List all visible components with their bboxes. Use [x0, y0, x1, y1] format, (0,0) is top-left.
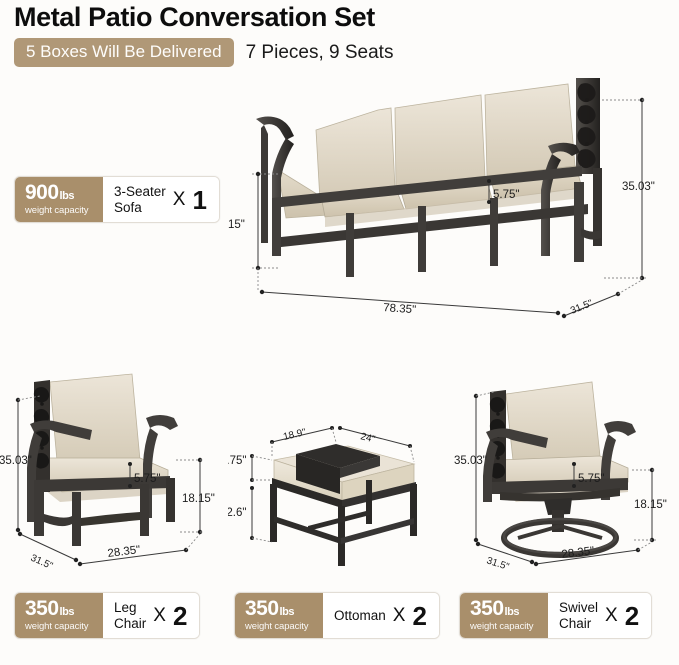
capacity-value: 350lbs — [25, 598, 93, 619]
item-quantity: 2 — [173, 603, 187, 629]
multiply-sign: X — [393, 605, 406, 627]
capacity-block: 900lbs weight capacity — [15, 177, 103, 222]
header-subrow: 5 Boxes Will Be Delivered 7 Pieces, 9 Se… — [14, 38, 393, 67]
capacity-sublabel: weight capacity — [25, 205, 93, 216]
multiply-sign: X — [153, 605, 166, 627]
capacity-block: 350lbs weight capacity — [235, 593, 323, 638]
multiply-sign: X — [605, 605, 618, 627]
dim-sofa-seat-height: 18.15" — [228, 219, 245, 231]
dim-ottoman-cushion: 5.75" — [228, 455, 246, 467]
capacity-sublabel: weight capacity — [470, 621, 538, 632]
dim-sofa-depth: 31.5" — [569, 298, 595, 317]
capacity-badge-swivel-chair: 350lbs weight capacity Swivel Chair X 2 — [459, 592, 652, 639]
dim-sofa-width: 78.35" — [383, 302, 417, 316]
item-block: Leg Chair X 2 — [103, 593, 199, 638]
item-block: Ottoman X 2 — [323, 593, 439, 638]
swivel-chair-illustration: 35.03" 18.15" 5.75" 31.5" 28.35" — [444, 352, 679, 572]
item-quantity: 2 — [412, 603, 426, 629]
capacity-block: 350lbs weight capacity — [460, 593, 548, 638]
boxes-delivered-badge: 5 Boxes Will Be Delivered — [14, 38, 234, 67]
dim-swivel-cushion: 5.75" — [578, 473, 604, 485]
dim-ottoman-width: 24" — [359, 431, 376, 445]
item-name: Ottoman — [334, 608, 386, 623]
capacity-sublabel: weight capacity — [25, 621, 93, 632]
dim-swivel-depth: 31.5" — [485, 555, 511, 572]
item-name: Leg Chair — [114, 600, 146, 630]
dim-legchair-width: 28.35" — [107, 544, 141, 560]
dim-sofa-cushion: 5.75" — [493, 189, 519, 201]
capacity-value: 350lbs — [470, 598, 538, 619]
dim-swivel-width: 28.35" — [561, 545, 595, 561]
capacity-badge-ottoman: 350lbs weight capacity Ottoman X 2 — [234, 592, 440, 639]
dim-swivel-height: 35.03" — [454, 455, 487, 467]
dim-legchair-seat-height: 18.15" — [182, 493, 215, 505]
capacity-value: 350lbs — [245, 598, 313, 619]
capacity-sublabel: weight capacity — [245, 621, 313, 632]
item-quantity: 1 — [192, 187, 206, 213]
item-block: 3-Seater Sofa X 1 — [103, 177, 219, 222]
sofa-illustration: 18.15" 35.03" 5.75" 78.35" 31.5" — [228, 78, 679, 333]
item-block: Swivel Chair X 2 — [548, 593, 651, 638]
dim-legchair-cushion: 5.75" — [134, 473, 160, 485]
item-name: Swivel Chair — [559, 600, 598, 630]
dim-ottoman-height: 12.6" — [228, 507, 246, 519]
capacity-badge-sofa: 900lbs weight capacity 3-Seater Sofa X 1 — [14, 176, 220, 223]
ottoman-illustration: 18.9" 24" 5.75" 12.6" — [228, 408, 446, 568]
multiply-sign: X — [173, 189, 186, 211]
dim-swivel-seat-height: 18.15" — [634, 499, 667, 511]
dim-ottoman-depth: 18.9" — [282, 427, 307, 443]
capacity-badge-leg-chair: 350lbs weight capacity Leg Chair X 2 — [14, 592, 200, 639]
capacity-block: 350lbs weight capacity — [15, 593, 103, 638]
item-quantity: 2 — [625, 603, 639, 629]
dim-sofa-height: 35.03" — [622, 181, 655, 193]
dim-legchair-height: 35.03" — [0, 455, 32, 467]
item-name: 3-Seater Sofa — [114, 184, 166, 214]
pieces-seats-label: 7 Pieces, 9 Seats — [246, 42, 394, 64]
product-infographic: Metal Patio Conversation Set 5 Boxes Wil… — [0, 0, 679, 665]
page-title: Metal Patio Conversation Set — [14, 2, 375, 33]
dim-legchair-depth: 31.5" — [29, 553, 55, 572]
leg-chair-illustration: 35.03" 18.15" 5.75" 31.5" 28.35" — [0, 352, 232, 572]
capacity-value: 900lbs — [25, 182, 93, 203]
